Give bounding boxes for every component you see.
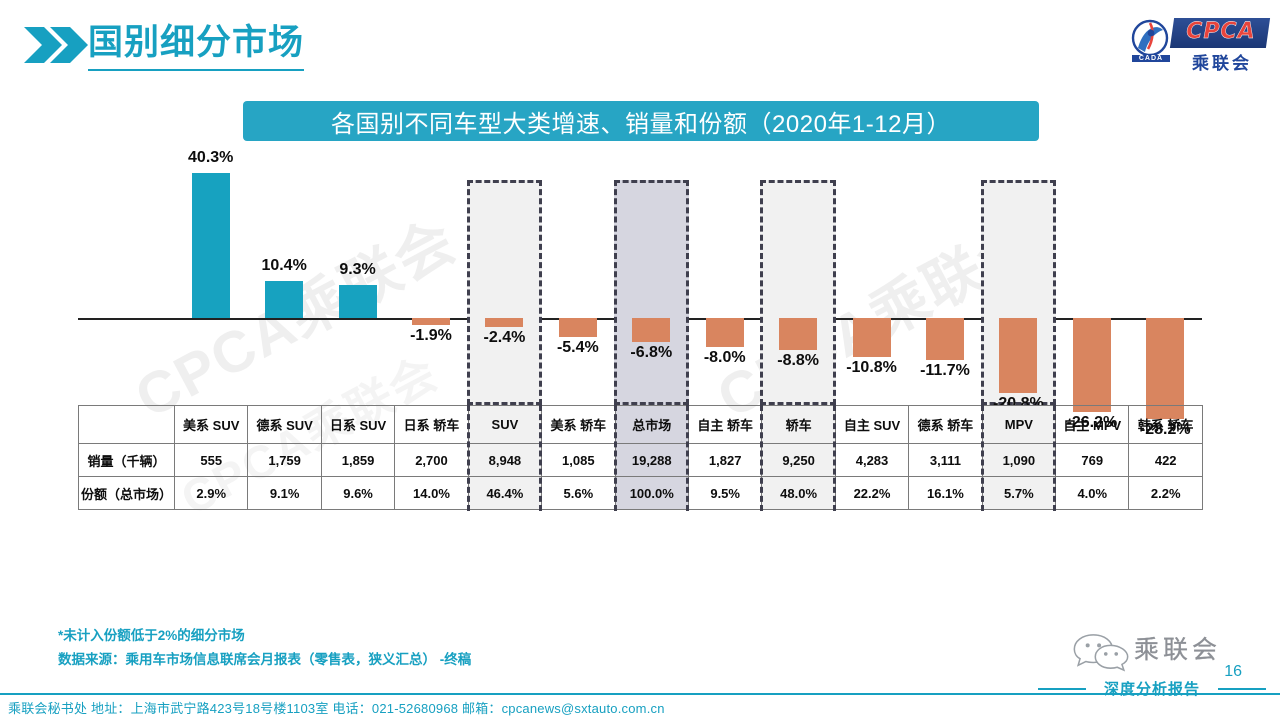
table-cell-sales: 9,250 bbox=[762, 444, 835, 477]
chart-title-text: 各国别不同车型大类增速、销量和份额（2020年1-12月） bbox=[331, 104, 951, 139]
footnotes: *未计入份额低于2%的细分市场 数据来源：乘用车市场信息联席会月报表（零售表，狭… bbox=[58, 624, 471, 672]
table-column-header: 自主 MPV bbox=[1056, 406, 1129, 444]
table-column-header: 自主 SUV bbox=[835, 406, 908, 444]
table-cell-share: 100.0% bbox=[615, 477, 688, 510]
table-column-header: 自主 轿车 bbox=[688, 406, 761, 444]
table-corner-cell bbox=[79, 406, 175, 444]
table-column-header: 轿车 bbox=[762, 406, 835, 444]
table-cell-sales: 1,085 bbox=[542, 444, 615, 477]
table-cell-sales: 8,948 bbox=[468, 444, 541, 477]
double-chevron-right-icon bbox=[24, 27, 88, 63]
table-cell-sales: 769 bbox=[1056, 444, 1129, 477]
table-column-header: 德系 SUV bbox=[248, 406, 321, 444]
table-cell-sales: 555 bbox=[175, 444, 248, 477]
table-row-label: 份额（总市场） bbox=[79, 477, 175, 510]
chart-bar-label: 40.3% bbox=[159, 149, 262, 167]
table-cell-share: 9.1% bbox=[248, 477, 321, 510]
table-column-header: 德系 轿车 bbox=[909, 406, 982, 444]
cpca-brand-text: CPCA bbox=[1178, 19, 1264, 44]
chart-bar-label: 9.3% bbox=[306, 261, 409, 279]
table-cell-share: 5.7% bbox=[982, 477, 1055, 510]
wechat-icon bbox=[1072, 632, 1130, 672]
data-table-wrapper: 美系 SUV德系 SUV日系 SUV日系 轿车SUV美系 轿车总市场自主 轿车轿… bbox=[78, 405, 1202, 510]
chart-bar-label: -11.7% bbox=[893, 362, 996, 380]
table-column-header: 美系 SUV bbox=[175, 406, 248, 444]
chart-bar bbox=[926, 318, 964, 360]
page-title: 国别细分市场 bbox=[88, 20, 304, 71]
table-cell-sales: 3,111 bbox=[909, 444, 982, 477]
table-cell-sales: 1,759 bbox=[248, 444, 321, 477]
table-cell-share: 48.0% bbox=[762, 477, 835, 510]
table-column-header: MPV bbox=[982, 406, 1055, 444]
rule-left bbox=[1038, 688, 1086, 690]
cpca-brand-cn: 乘联会 bbox=[1176, 49, 1268, 74]
table-cell-share: 46.4% bbox=[468, 477, 541, 510]
data-table: 美系 SUV德系 SUV日系 SUV日系 轿车SUV美系 轿车总市场自主 轿车轿… bbox=[78, 405, 1203, 510]
chart-bar bbox=[485, 318, 523, 327]
table-cell-share: 9.5% bbox=[688, 477, 761, 510]
table-column-header: SUV bbox=[468, 406, 541, 444]
table-cell-share: 14.0% bbox=[395, 477, 468, 510]
slide-header: 国别细分市场 CADA CPCA 乘联会 bbox=[0, 0, 1280, 88]
table-column-header: 美系 轿车 bbox=[542, 406, 615, 444]
table-cell-sales: 1,827 bbox=[688, 444, 761, 477]
rule-right bbox=[1218, 688, 1266, 690]
cpca-logo: CADA CPCA 乘联会 bbox=[1130, 14, 1268, 72]
chart-bar bbox=[1073, 318, 1111, 412]
cada-text: CADA bbox=[1132, 55, 1170, 62]
chart-column-highlight-box bbox=[614, 180, 689, 405]
table-row-label: 销量（千辆） bbox=[79, 444, 175, 477]
chart-bar bbox=[779, 318, 817, 350]
chart-bar bbox=[339, 285, 377, 318]
table-cell-share: 16.1% bbox=[909, 477, 982, 510]
chart-column-highlight-box bbox=[467, 180, 542, 405]
chart-bar bbox=[265, 281, 303, 318]
chart-bar bbox=[999, 318, 1037, 393]
report-label-block: 深度分析报告 bbox=[1038, 681, 1266, 695]
table-cell-sales: 2,700 bbox=[395, 444, 468, 477]
table-cell-sales: 1,090 bbox=[982, 444, 1055, 477]
table-column-header: 日系 轿车 bbox=[395, 406, 468, 444]
chart-bar bbox=[853, 318, 891, 357]
table-cell-share: 2.9% bbox=[175, 477, 248, 510]
table-cell-share: 2.2% bbox=[1129, 477, 1202, 510]
table-column-header: 总市场 bbox=[615, 406, 688, 444]
table-cell-share: 9.6% bbox=[321, 477, 394, 510]
table-cell-sales: 422 bbox=[1129, 444, 1202, 477]
chart-title-banner: 各国别不同车型大类增速、销量和份额（2020年1-12月） bbox=[243, 101, 1039, 141]
chart-bar bbox=[192, 173, 230, 318]
footnote-line-1: *未计入份额低于2%的细分市场 bbox=[58, 624, 471, 648]
slide-root: CPCA乘联会 CPCA乘联会 CPCA乘联会 国别细分市场 CADA CPCA… bbox=[0, 0, 1280, 720]
wechat-name: 乘联会 bbox=[1134, 630, 1221, 666]
table-cell-share: 4.0% bbox=[1056, 477, 1129, 510]
table-column-header: 日系 SUV bbox=[321, 406, 394, 444]
table-cell-sales: 4,283 bbox=[835, 444, 908, 477]
table-cell-share: 5.6% bbox=[542, 477, 615, 510]
chart-bar bbox=[412, 318, 450, 325]
table-header-row: 美系 SUV德系 SUV日系 SUV日系 轿车SUV美系 轿车总市场自主 轿车轿… bbox=[79, 406, 1203, 444]
footnote-line-2: 数据来源：乘用车市场信息联席会月报表（零售表，狭义汇总） -终稿 bbox=[58, 648, 471, 672]
report-label: 深度分析报告 bbox=[1090, 678, 1214, 699]
table-row: 份额（总市场）2.9%9.1%9.6%14.0%46.4%5.6%100.0%9… bbox=[79, 477, 1203, 510]
table-column-header: 韩系 轿车 bbox=[1129, 406, 1202, 444]
table-cell-share: 22.2% bbox=[835, 477, 908, 510]
table-cell-sales: 1,859 bbox=[321, 444, 394, 477]
chart-bar bbox=[559, 318, 597, 337]
chart-bar bbox=[706, 318, 744, 347]
chart-bar bbox=[632, 318, 670, 342]
page-number: 16 bbox=[1224, 663, 1242, 681]
footer-contact-info: 乘联会秘书处 地址：上海市武宁路423号18号楼1103室 电话：021-526… bbox=[8, 698, 665, 717]
bar-chart-plot: 40.3%10.4%9.3%-1.9%-2.4%-5.4%-6.8%-8.0%-… bbox=[78, 160, 1202, 405]
table-row: 销量（千辆）5551,7591,8592,7008,9481,08519,288… bbox=[79, 444, 1203, 477]
table-cell-sales: 19,288 bbox=[615, 444, 688, 477]
